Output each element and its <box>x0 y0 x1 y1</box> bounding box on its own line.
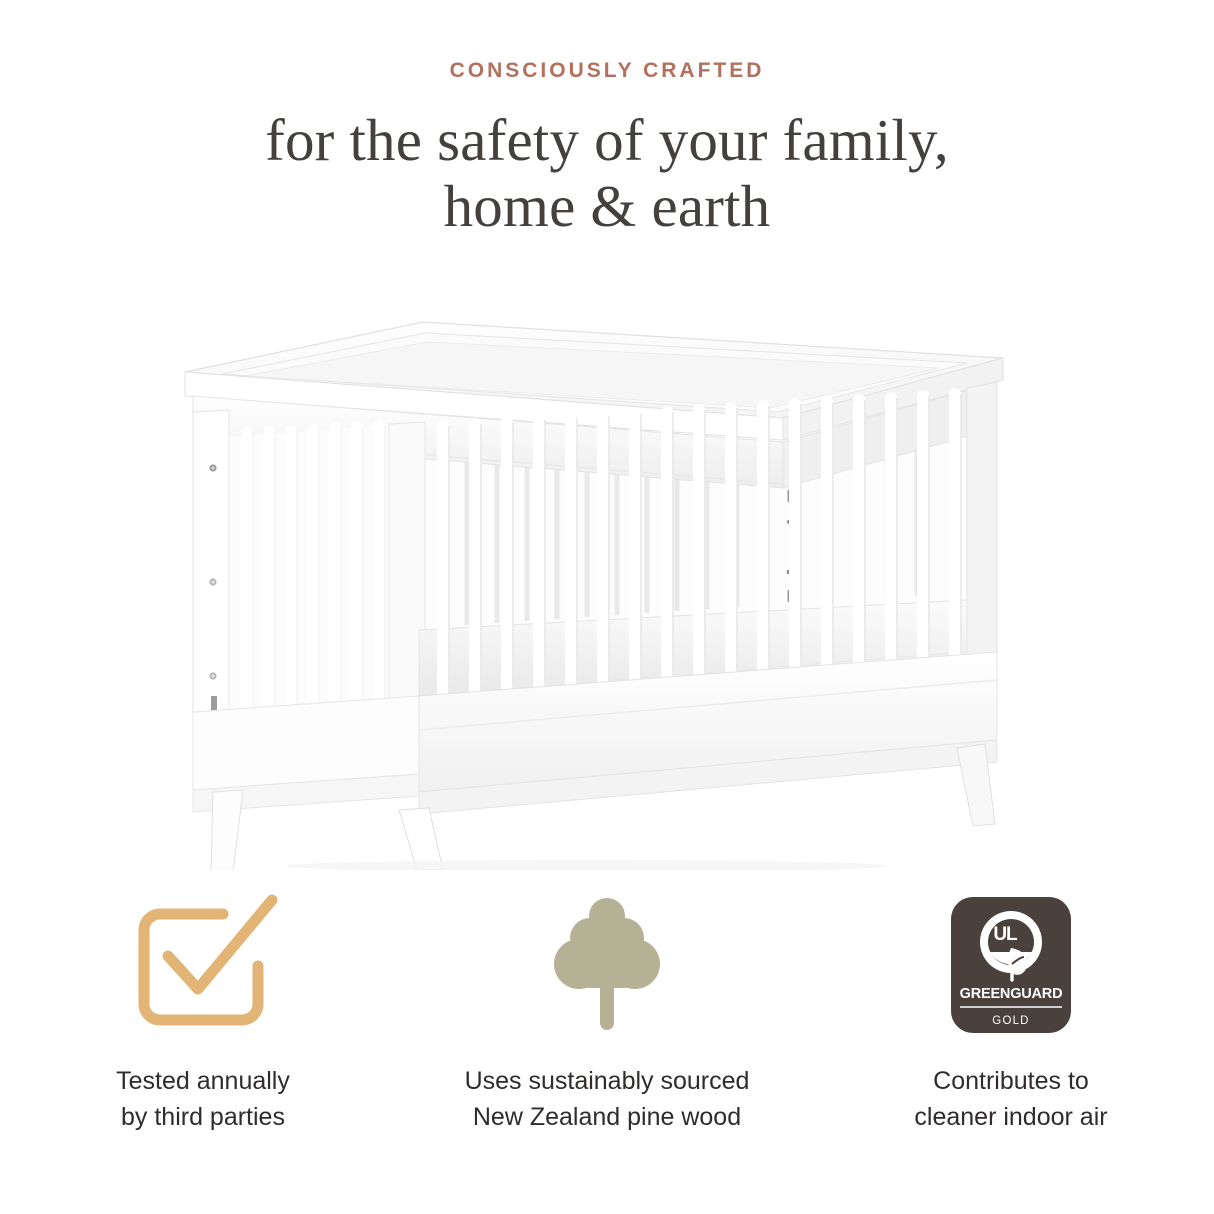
ul-letter-u: UL <box>993 924 1018 945</box>
feature-icon-wrap <box>128 890 278 1040</box>
feature-sustainable-wood: Uses sustainably sourced New Zealand pin… <box>405 890 809 1135</box>
page-title: for the safety of your family, home & ea… <box>0 107 1214 239</box>
feature-caption: Contributes to cleaner indoor air <box>914 1064 1107 1135</box>
headline-line-2: home & earth <box>444 173 771 239</box>
feature-cleaner-air: UL GREENGUARD GOLD Con <box>809 890 1213 1135</box>
headline-line-1: for the safety of your family, <box>265 107 949 173</box>
crib-left-end-panel <box>193 410 425 732</box>
eyebrow-text: CONSCIOUSLY CRAFTED <box>0 60 1214 81</box>
feature-icon-wrap <box>532 890 682 1040</box>
feature-icon-wrap: UL GREENGUARD GOLD <box>948 890 1074 1040</box>
badge-tier: GOLD <box>992 1015 1029 1027</box>
feature-caption: Tested annually by third parties <box>116 1064 290 1135</box>
badge-wordmark: GREENGUARD <box>960 986 1063 1002</box>
crib-illustration <box>167 300 1047 870</box>
feature-tested-annually: Tested annually by third parties <box>1 890 405 1135</box>
product-image <box>0 300 1214 880</box>
tree-icon <box>532 894 682 1036</box>
greenguard-gold-badge-icon: UL GREENGUARD GOLD <box>948 894 1074 1036</box>
header: CONSCIOUSLY CRAFTED for the safety of yo… <box>0 60 1214 239</box>
promo-page: CONSCIOUSLY CRAFTED for the safety of yo… <box>0 0 1214 1214</box>
checkbox-check-icon <box>128 894 278 1036</box>
feature-caption: Uses sustainably sourced New Zealand pin… <box>465 1064 750 1135</box>
feature-list: Tested annually by third parties <box>0 890 1214 1135</box>
